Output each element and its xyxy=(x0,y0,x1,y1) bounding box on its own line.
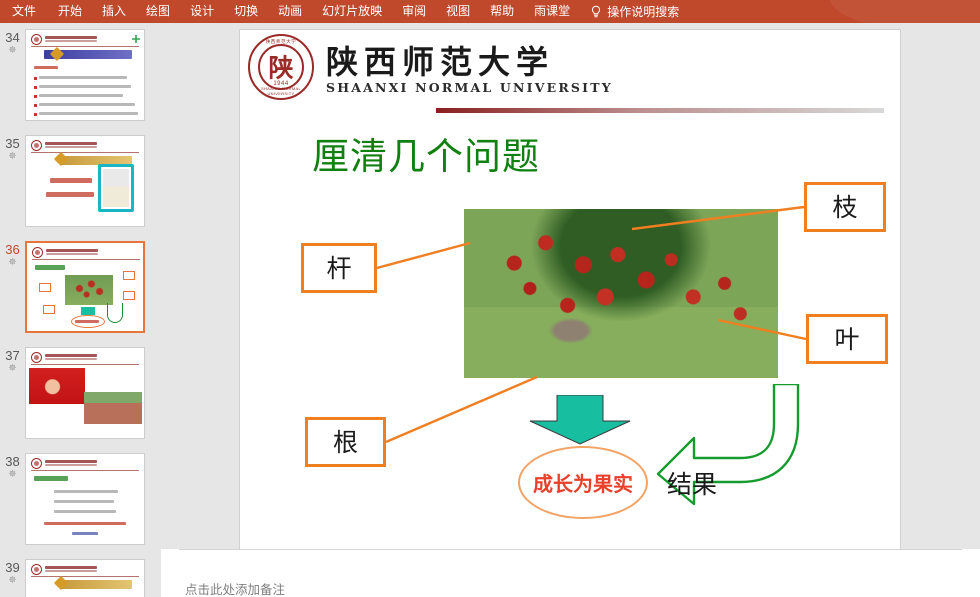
label-box-trunk[interactable]: 杆 xyxy=(301,243,377,293)
tell-me-search[interactable]: 操作说明搜索 xyxy=(590,3,679,20)
thumbnail-meta-37: 37 ✵ xyxy=(0,347,25,374)
mini-header-rule xyxy=(31,364,139,365)
slide-title[interactable]: 厘清几个问题 xyxy=(312,126,540,180)
notes-divider xyxy=(179,549,962,550)
thumbnail-slide-37[interactable]: 37 ✵ xyxy=(0,347,161,439)
university-name-cn: 陕西师范大学 xyxy=(326,43,613,81)
header-divider-highlight xyxy=(436,104,532,108)
ribbon-menu-bar: 文件 开始 插入 绘图 设计 切换 动画 幻灯片放映 审阅 视图 帮助 雨课堂 … xyxy=(0,0,980,23)
thumbnail-number: 35 xyxy=(0,137,25,151)
mini-slide-header xyxy=(31,352,97,363)
seal-center-character: 陕 xyxy=(250,48,312,84)
label-box-root[interactable]: 根 xyxy=(305,417,386,467)
mini-text-line xyxy=(54,500,114,503)
mini-label-box xyxy=(39,283,51,292)
mini-text-line xyxy=(39,76,127,79)
thumbnail-number: 34 xyxy=(0,31,25,45)
green-curved-arrow[interactable] xyxy=(636,384,800,564)
animation-star-icon: ✵ xyxy=(0,575,25,586)
outcome-ellipse-text: 成长为果实 xyxy=(533,468,633,497)
lightbulb-icon xyxy=(590,5,602,19)
mini-label-box xyxy=(43,305,55,314)
menu-draw[interactable]: 绘图 xyxy=(136,0,180,23)
apple-tree-photo[interactable] xyxy=(464,209,778,378)
tell-me-label: 操作说明搜索 xyxy=(607,3,679,20)
shaanxi-normal-university-seal-icon: 陕西师范大学 陕 1944 SHAANXI NORMAL UNIVERSITY xyxy=(248,34,314,100)
menu-home[interactable]: 开始 xyxy=(48,0,92,23)
mini-text-line xyxy=(39,103,135,106)
connector-trunk xyxy=(377,243,470,268)
label-text-root: 根 xyxy=(333,430,358,455)
mini-bullet-icon xyxy=(34,95,37,98)
header-divider-rule xyxy=(436,108,884,113)
animation-star-icon: ✵ xyxy=(0,469,25,480)
thumbnail-slide-34[interactable]: 34 ✵ xyxy=(0,29,161,121)
mini-university-name xyxy=(45,460,97,467)
animation-star-icon: ✵ xyxy=(0,45,25,56)
mini-green-arrow xyxy=(107,303,123,323)
menu-slideshow[interactable]: 幻灯片放映 xyxy=(312,0,392,23)
mini-text-line xyxy=(72,532,98,535)
notes-pane[interactable]: 点击此处添加备注 xyxy=(161,549,980,597)
mini-university-name xyxy=(45,36,97,43)
result-arrow-label: 结果 xyxy=(667,465,717,501)
mini-seal-icon xyxy=(31,352,42,363)
university-name-block: 陕西师范大学 SHAANXI NORMAL UNIVERSITY xyxy=(326,39,613,95)
thumbnail-number: 38 xyxy=(0,455,25,469)
seal-arc-bottom: SHAANXI NORMAL UNIVERSITY xyxy=(250,86,312,96)
thumbnail-number: 36 xyxy=(0,243,25,257)
mini-title-text xyxy=(35,265,65,270)
mini-seal-icon xyxy=(31,564,42,575)
mini-slide-header xyxy=(32,247,98,258)
thumbnail-card[interactable] xyxy=(25,559,145,597)
menu-transitions[interactable]: 切换 xyxy=(224,0,268,23)
mini-bullet-icon xyxy=(34,77,37,80)
mini-header-rule xyxy=(31,46,139,47)
slide-header-logo: 陕西师范大学 陕 1944 SHAANXI NORMAL UNIVERSITY … xyxy=(248,34,613,100)
mini-text-line xyxy=(34,66,58,69)
mini-university-name xyxy=(45,354,97,361)
thumbnail-meta-36: 36 ✵ xyxy=(0,241,25,268)
thumbnail-slide-36[interactable]: 36 ✵ xyxy=(0,241,161,333)
university-name-en: SHAANXI NORMAL UNIVERSITY xyxy=(326,80,613,95)
mini-text-line xyxy=(39,112,138,115)
mini-slide-header xyxy=(31,458,97,469)
menu-insert[interactable]: 插入 xyxy=(92,0,136,23)
thumbnail-meta-39: 39 ✵ xyxy=(0,559,25,586)
connector-root xyxy=(386,377,537,442)
mini-slide-header xyxy=(31,564,97,575)
slide-thumbnail-panel[interactable]: 34 ✵ xyxy=(0,23,161,597)
mini-university-name xyxy=(46,249,98,256)
mini-text-line xyxy=(44,522,126,525)
mini-text-line xyxy=(46,192,94,197)
mini-text-line xyxy=(39,85,131,88)
mini-text-line xyxy=(54,510,116,513)
mini-text-line xyxy=(50,178,92,183)
thumbnail-number: 39 xyxy=(0,561,25,575)
label-box-leaf[interactable]: 叶 xyxy=(806,314,888,364)
mini-seal-icon xyxy=(31,458,42,469)
menu-view[interactable]: 视图 xyxy=(436,0,480,23)
mini-person-photo xyxy=(103,169,129,207)
mini-header-rule xyxy=(32,259,140,260)
outcome-ellipse[interactable]: 成长为果实 xyxy=(518,446,648,519)
notes-placeholder[interactable]: 点击此处添加备注 xyxy=(185,579,285,597)
mini-seal-icon xyxy=(31,34,42,45)
mini-header-rule xyxy=(31,152,139,153)
label-text-leaf: 叶 xyxy=(834,327,859,352)
menu-rain-classroom[interactable]: 雨课堂 xyxy=(524,0,580,23)
mini-photo-frame xyxy=(98,164,134,212)
thumbnail-card[interactable] xyxy=(25,453,145,545)
menu-animations[interactable]: 动画 xyxy=(268,0,312,23)
thumbnail-card[interactable] xyxy=(25,241,145,333)
label-text-branch: 枝 xyxy=(832,195,857,220)
thumbnail-meta-34: 34 ✵ xyxy=(0,29,25,56)
mini-apple-tree-photo xyxy=(65,275,113,305)
teal-down-arrow[interactable] xyxy=(529,395,631,445)
menu-design[interactable]: 设计 xyxy=(180,0,224,23)
thumbnail-slide-38[interactable]: 38 ✵ xyxy=(0,453,161,545)
mini-slide-header xyxy=(31,34,97,45)
mini-seal-icon xyxy=(32,247,43,258)
mini-label-box xyxy=(123,271,135,280)
mini-label-box xyxy=(123,291,135,300)
mini-athlete-flag-photo xyxy=(29,368,85,404)
mini-university-name xyxy=(45,566,97,573)
mini-title-text xyxy=(34,476,68,481)
menu-review[interactable]: 审阅 xyxy=(392,0,436,23)
mini-text-line xyxy=(39,94,123,97)
mini-bullet-icon xyxy=(34,86,37,89)
mini-text-line xyxy=(54,490,118,493)
thumbnail-slide-35[interactable]: 35 ✵ xyxy=(0,135,161,227)
animation-star-icon: ✵ xyxy=(0,151,25,162)
mini-slide-header xyxy=(31,140,97,151)
mini-cross-icon xyxy=(132,35,140,43)
powerpoint-window: 文件 开始 插入 绘图 设计 切换 动画 幻灯片放映 审阅 视图 帮助 雨课堂 … xyxy=(0,0,980,597)
mini-header-rule xyxy=(31,576,139,577)
menu-help[interactable]: 帮助 xyxy=(480,0,524,23)
mini-title-bar xyxy=(60,580,132,589)
thumbnail-card[interactable] xyxy=(25,29,145,121)
animation-star-icon: ✵ xyxy=(0,257,25,268)
thumbnail-slide-39[interactable]: 39 ✵ xyxy=(0,559,161,597)
current-slide-canvas[interactable]: 陕西师范大学 陕 1944 SHAANXI NORMAL UNIVERSITY … xyxy=(239,29,901,566)
mini-seal-icon xyxy=(31,140,42,151)
thumbnail-number: 37 xyxy=(0,349,25,363)
mini-bullet-icon xyxy=(34,113,37,116)
mini-university-name xyxy=(45,142,97,149)
thumbnail-meta-35: 35 ✵ xyxy=(0,135,25,162)
thumbnail-card[interactable] xyxy=(25,347,145,439)
animation-star-icon: ✵ xyxy=(0,363,25,374)
menu-file[interactable]: 文件 xyxy=(0,0,48,23)
mini-track-photo xyxy=(84,392,142,424)
slide-editing-area: 陕西师范大学 陕 1944 SHAANXI NORMAL UNIVERSITY … xyxy=(161,23,980,597)
label-text-trunk: 杆 xyxy=(326,256,351,281)
mini-ellipse-text xyxy=(75,320,99,323)
thumbnail-card[interactable] xyxy=(25,135,145,227)
mini-bullet-icon xyxy=(34,104,37,107)
mini-teal-arrow xyxy=(81,307,95,315)
mini-header-rule xyxy=(31,470,139,471)
label-box-branch[interactable]: 枝 xyxy=(804,182,886,232)
thumbnail-meta-38: 38 ✵ xyxy=(0,453,25,480)
